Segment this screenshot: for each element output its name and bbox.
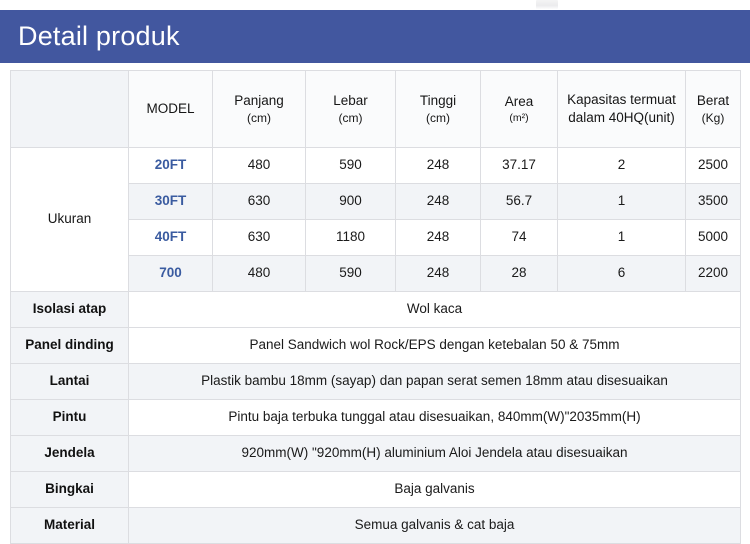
table-row: Material Semua galvanis & cat baja (11, 508, 741, 544)
header-area: Area (m²) (481, 71, 558, 148)
cell-berat: 2500 (686, 148, 741, 184)
cell-lebar: 1180 (306, 220, 396, 256)
header-berat-label: Berat (697, 93, 729, 108)
cell-panjang: 630 (213, 184, 306, 220)
cell-model: 700 (129, 256, 213, 292)
header-tinggi: Tinggi (cm) (396, 71, 481, 148)
header-panjang-unit: (cm) (216, 110, 302, 126)
header-panjang-label: Panjang (234, 93, 284, 108)
header-tinggi-label: Tinggi (420, 93, 456, 108)
spec-table-container: MODEL Panjang (cm) Lebar (cm) Tinggi (cm… (10, 70, 740, 544)
spec-value-bingkai: Baja galvanis (129, 472, 741, 508)
spec-label-panel-dinding: Panel dinding (11, 328, 129, 364)
cell-model: 40FT (129, 220, 213, 256)
spec-label-pintu: Pintu (11, 400, 129, 436)
spec-value-pintu: Pintu baja terbuka tunggal atau disesuai… (129, 400, 741, 436)
cell-area: 28 (481, 256, 558, 292)
cell-model: 30FT (129, 184, 213, 220)
cell-tinggi: 248 (396, 256, 481, 292)
spec-label-bingkai: Bingkai (11, 472, 129, 508)
cell-area: 74 (481, 220, 558, 256)
top-edge-artifact (0, 0, 750, 10)
cell-tinggi: 248 (396, 148, 481, 184)
header-area-unit: (m²) (484, 111, 554, 125)
cell-lebar: 590 (306, 148, 396, 184)
cell-panjang: 630 (213, 220, 306, 256)
cell-berat: 2200 (686, 256, 741, 292)
cell-kapasitas: 6 (558, 256, 686, 292)
table-row: Isolasi atap Wol kaca (11, 292, 741, 328)
table-row: Panel dinding Panel Sandwich wol Rock/EP… (11, 328, 741, 364)
spec-value-jendela: 920mm(W) "920mm(H) aluminium Aloi Jendel… (129, 436, 741, 472)
cell-tinggi: 248 (396, 220, 481, 256)
spec-label-material: Material (11, 508, 129, 544)
header-area-label: Area (505, 94, 534, 109)
header-berat: Berat (Kg) (686, 71, 741, 148)
header-kapasitas: Kapasitas termuat dalam 40HQ(unit) (558, 71, 686, 148)
product-spec-table: MODEL Panjang (cm) Lebar (cm) Tinggi (cm… (10, 70, 741, 544)
section-banner: Detail produk (0, 10, 750, 63)
header-lebar-label: Lebar (333, 93, 368, 108)
spec-label-isolasi-atap: Isolasi atap (11, 292, 129, 328)
cell-panjang: 480 (213, 148, 306, 184)
header-model-label: MODEL (146, 101, 194, 116)
cell-berat: 3500 (686, 184, 741, 220)
spec-value-material: Semua galvanis & cat baja (129, 508, 741, 544)
page-title: Detail produk (0, 23, 180, 50)
table-row: Lantai Plastik bambu 18mm (sayap) dan pa… (11, 364, 741, 400)
group-label-ukuran: Ukuran (11, 148, 129, 292)
spec-value-lantai: Plastik bambu 18mm (sayap) dan papan ser… (129, 364, 741, 400)
spec-value-panel-dinding: Panel Sandwich wol Rock/EPS dengan keteb… (129, 328, 741, 364)
header-model: MODEL (129, 71, 213, 148)
header-lebar-unit: (cm) (309, 110, 392, 126)
table-row: Pintu Pintu baja terbuka tunggal atau di… (11, 400, 741, 436)
table-row: Bingkai Baja galvanis (11, 472, 741, 508)
table-row: Ukuran 20FT 480 590 248 37.17 2 2500 (11, 148, 741, 184)
cell-lebar: 900 (306, 184, 396, 220)
header-berat-unit: (Kg) (689, 110, 737, 126)
header-tinggi-unit: (cm) (399, 110, 477, 126)
spec-label-jendela: Jendela (11, 436, 129, 472)
cell-kapasitas: 1 (558, 220, 686, 256)
cell-berat: 5000 (686, 220, 741, 256)
cell-kapasitas: 2 (558, 148, 686, 184)
cell-area: 37.17 (481, 148, 558, 184)
header-lebar: Lebar (cm) (306, 71, 396, 148)
cell-area: 56.7 (481, 184, 558, 220)
cell-model: 20FT (129, 148, 213, 184)
table-header-row: MODEL Panjang (cm) Lebar (cm) Tinggi (cm… (11, 71, 741, 148)
cell-kapasitas: 1 (558, 184, 686, 220)
spec-label-lantai: Lantai (11, 364, 129, 400)
partial-image-fragment (536, 0, 558, 9)
table-row: Jendela 920mm(W) "920mm(H) aluminium Alo… (11, 436, 741, 472)
cell-lebar: 590 (306, 256, 396, 292)
spec-value-isolasi-atap: Wol kaca (129, 292, 741, 328)
cell-tinggi: 248 (396, 184, 481, 220)
header-corner-blank (11, 71, 129, 148)
cell-panjang: 480 (213, 256, 306, 292)
header-panjang: Panjang (cm) (213, 71, 306, 148)
